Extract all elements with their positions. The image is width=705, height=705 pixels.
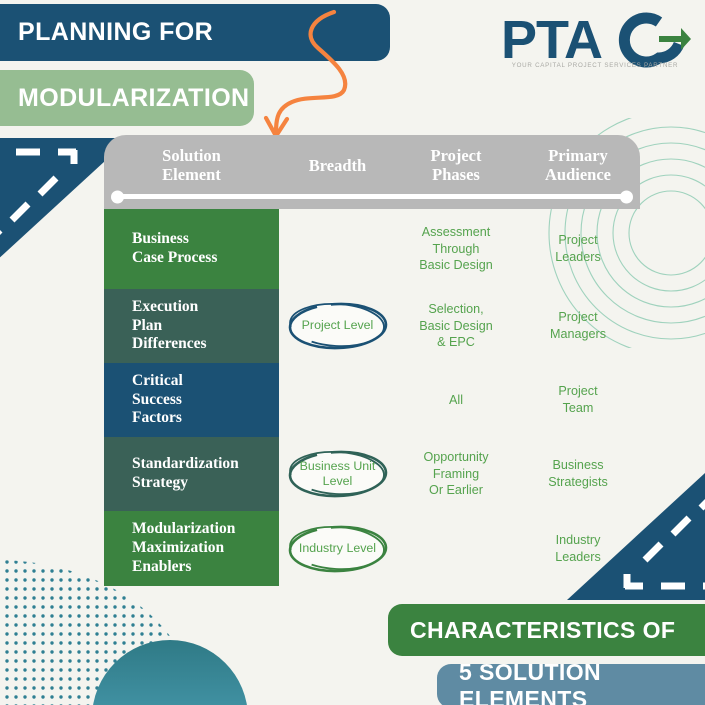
project-phase-line: Or Earlier [423,482,488,499]
table-row: ModularizationMaximizationEnablersIndust… [104,511,640,586]
cell-solution-element: ExecutionPlanDifferences [104,289,279,363]
solution-element-line: Strategy [132,474,279,493]
solution-elements-table: Solution Element Breadth Project Phases … [104,135,640,586]
logo-tagline: YOUR CAPITAL PROJECT SERVICES PARTNER [499,62,691,69]
cell-solution-element: CriticalSuccessFactors [104,363,279,437]
breadth-oval: Business UnitLevel [286,448,390,500]
primary-audience-line: Project [555,232,601,249]
svg-text:PTA: PTA [501,10,602,70]
solution-element-line: Execution [132,298,279,317]
title-banner-modularization: MODULARIZATION [0,70,254,126]
cell-breadth [279,209,396,289]
semicircle-decoration [92,640,248,705]
primary-audience-line: Leaders [555,249,601,266]
cell-project-phases: All [396,363,516,437]
solution-element-line: Factors [132,409,279,428]
table-row: CriticalSuccessFactorsAllProjectTeam [104,363,640,437]
primary-audience-line: Managers [550,326,606,343]
primary-audience-line: Business [548,457,608,474]
title-line-1: PLANNING FOR [18,18,213,47]
solution-element-line: Maximization [132,539,279,558]
curved-down-arrow-icon [252,2,392,142]
solution-element-line: Case Process [132,249,279,268]
primary-audience-line: Industry [555,532,601,549]
project-phase-line: & EPC [419,334,493,351]
breadth-label-line: Business Unit [300,459,376,475]
cell-project-phases: AssessmentThroughBasic Design [396,209,516,289]
cell-primary-audience: ProjectManagers [516,289,640,363]
primary-audience-line: Project [558,383,597,400]
cell-project-phases: Selection,Basic Design& EPC [396,289,516,363]
breadth-oval: Project Level [286,300,390,352]
breadth-label-line: Industry Level [299,541,376,557]
breadth-label: Industry Level [299,541,376,557]
breadth-label-line: Level [300,474,376,490]
cell-breadth: Business UnitLevel [279,437,396,511]
solution-element-line: Enablers [132,558,279,577]
project-phase-line: Framing [423,466,488,483]
solution-element-line: Plan [132,317,279,336]
footer-line-2: 5 SOLUTION ELEMENTS [459,659,705,705]
cell-project-phases [396,511,516,586]
cell-primary-audience: BusinessStrategists [516,437,640,511]
breadth-label-line: Project Level [302,318,374,334]
solution-element-line: Standardization [132,455,279,474]
project-phase-line: Basic Design [419,257,493,274]
cell-solution-element: StandardizationStrategy [104,437,279,511]
table-body: BusinessCase ProcessAssessmentThroughBas… [104,209,640,586]
breadth-oval: Industry Level [286,523,390,575]
cell-solution-element: BusinessCase Process [104,209,279,289]
cell-primary-audience: ProjectTeam [516,363,640,437]
project-phase-line: Opportunity [423,449,488,466]
cell-breadth [279,363,396,437]
footer-banner-solution-elements: 5 SOLUTION ELEMENTS [437,664,705,705]
project-phase-line: Assessment [419,224,493,241]
project-phase-line: Basic Design [419,318,493,335]
infographic-canvas: PLANNING FOR MODULARIZATION PTA YOUR CAP… [0,0,705,705]
cell-breadth: Project Level [279,289,396,363]
cell-project-phases: OpportunityFramingOr Earlier [396,437,516,511]
project-phase-line: All [449,392,463,409]
table-row: BusinessCase ProcessAssessmentThroughBas… [104,209,640,289]
cell-primary-audience: IndustryLeaders [516,511,640,586]
solution-element-line: Critical [132,372,279,391]
solution-element-line: Business [132,230,279,249]
footer-line-1: CHARACTERISTICS OF [410,617,675,644]
solution-element-line: Success [132,391,279,410]
primary-audience-line: Team [558,400,597,417]
table-row: ExecutionPlanDifferencesProject LevelSel… [104,289,640,363]
cell-primary-audience: ProjectLeaders [516,209,640,289]
title-line-2: MODULARIZATION [18,84,250,113]
header-rule-line [116,194,628,199]
project-phase-line: Selection, [419,301,493,318]
table-row: StandardizationStrategyBusiness UnitLeve… [104,437,640,511]
project-phase-line: Through [419,241,493,258]
solution-element-line: Differences [132,335,279,354]
primary-audience-line: Leaders [555,549,601,566]
footer-banner-characteristics: CHARACTERISTICS OF [388,604,705,656]
primary-audience-line: Strategists [548,474,608,491]
primary-audience-line: Project [550,309,606,326]
table-header-row: Solution Element Breadth Project Phases … [104,135,640,209]
breadth-label: Business UnitLevel [300,459,376,490]
solution-element-line: Modularization [132,520,279,539]
cell-breadth: Industry Level [279,511,396,586]
cell-solution-element: ModularizationMaximizationEnablers [104,511,279,586]
breadth-label: Project Level [302,318,374,334]
